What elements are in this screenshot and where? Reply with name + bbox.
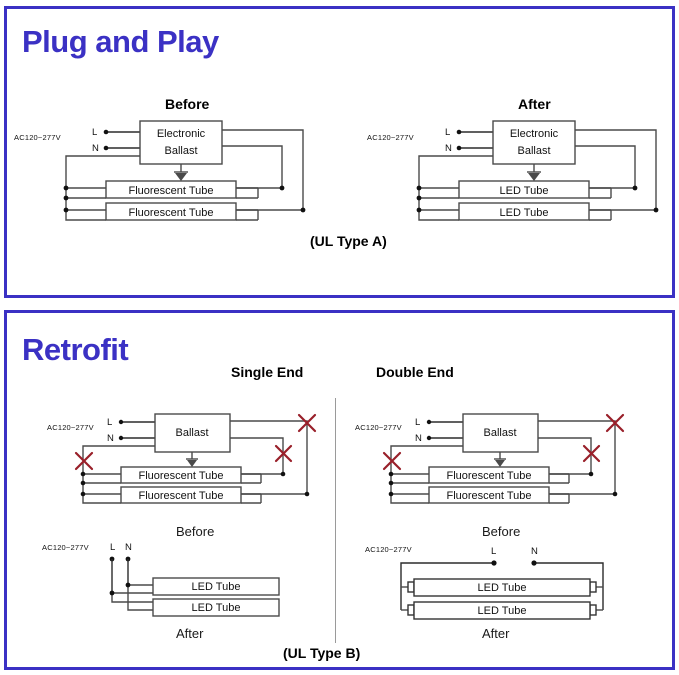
section-title-plug-and-play: Plug and Play (22, 24, 219, 60)
label-line-L: L (491, 546, 496, 557)
junction-dot (457, 146, 462, 151)
label-ul-type-b: (UL Type B) (283, 645, 360, 661)
label-supply-voltage: AC120~277V (355, 423, 402, 432)
label-supply-voltage: AC120~277V (47, 423, 94, 432)
label-tube-2: Fluorescent Tube (139, 490, 224, 502)
junction-dot (389, 492, 394, 497)
junction-dot (104, 130, 109, 135)
heading-double-end: Double End (376, 364, 454, 380)
junction-dot (654, 208, 659, 213)
junction-dot (427, 436, 431, 440)
junction-dot (301, 208, 306, 213)
junction-dot (427, 420, 431, 424)
junction-dot (64, 208, 69, 213)
junction-dot (613, 492, 618, 497)
caption-single-end-after: After (176, 626, 203, 641)
component-tube-2: LED Tube (408, 602, 596, 619)
label-tube-1: LED Tube (192, 581, 241, 593)
diagram-plugplay-before: AC120~277V L N Electronic Ballast (10, 118, 320, 238)
wires-supply (457, 130, 493, 151)
ground-symbol (527, 164, 541, 181)
wires-right-returns (538, 421, 617, 503)
label-tube-2: LED Tube (500, 207, 549, 219)
ground-symbol (174, 164, 188, 181)
junction-dot (126, 583, 131, 588)
junction-dot (589, 472, 594, 477)
label-tube-1: LED Tube (500, 185, 549, 197)
label-ballast-line2: Ballast (164, 145, 197, 157)
diagram-single-end-before: AC120~277V L N Ballast (45, 412, 335, 522)
junction-dot (64, 186, 69, 191)
label-tube-1: Fluorescent Tube (447, 470, 532, 482)
heading-plugplay-after: After (518, 96, 551, 112)
label-line-L: L (92, 127, 97, 138)
junction-dot (64, 196, 69, 201)
label-supply-voltage: AC120~277V (365, 545, 412, 554)
terminal-dot-L (491, 560, 496, 565)
label-neutral-N: N (92, 143, 99, 154)
caption-single-end-before: Before (176, 524, 214, 539)
tube-endcap-left (408, 582, 414, 592)
label-supply-voltage: AC120~277V (367, 133, 414, 142)
junction-dot (81, 481, 86, 486)
junction-dot (110, 591, 115, 596)
junction-dot (417, 208, 422, 213)
junction-dot (281, 472, 286, 477)
label-neutral-N: N (415, 433, 422, 444)
diagram-double-end-before: AC120~277V L N Ballast (353, 412, 643, 522)
junction-dot (81, 492, 86, 497)
label-ballast-line1: Electronic (157, 128, 206, 140)
diagram-double-end-after: AC120~277V L N LED Tube (363, 538, 663, 630)
junction-dot (119, 436, 123, 440)
label-neutral-N: N (531, 546, 538, 557)
diagram-plugplay-after: AC120~277V L N Electronic Ballast (363, 118, 673, 238)
junction-dot (81, 472, 86, 477)
junction-dot (104, 146, 109, 151)
label-supply-voltage: AC120~277V (42, 543, 89, 552)
junction-dot (633, 186, 638, 191)
x-mark-icon (76, 453, 92, 469)
label-supply-voltage: AC120~277V (14, 133, 61, 142)
label-tube-1: Fluorescent Tube (139, 470, 224, 482)
label-tube-2: Fluorescent Tube (447, 490, 532, 502)
junction-dot (457, 130, 462, 135)
label-neutral-N: N (125, 542, 132, 553)
caption-double-end-before: Before (482, 524, 520, 539)
diagram-page: Plug and Play Before After AC120~277V L … (0, 0, 679, 675)
label-tube-2: LED Tube (192, 602, 241, 614)
wires-supply (110, 557, 153, 610)
label-neutral-N: N (107, 433, 114, 444)
wires-supply (119, 420, 155, 440)
label-neutral-N: N (445, 143, 452, 154)
tube-endcap-left (408, 605, 414, 615)
label-line-L: L (415, 417, 420, 428)
label-tube-2: Fluorescent Tube (129, 207, 214, 219)
label-line-L: L (107, 417, 112, 428)
column-divider (335, 398, 336, 643)
label-ul-type-a: (UL Type A) (310, 233, 387, 249)
label-ballast: Ballast (483, 427, 516, 439)
label-ballast: Ballast (175, 427, 208, 439)
label-tube-1: LED Tube (478, 582, 527, 594)
diagram-single-end-after: AC120~277V L N (40, 538, 330, 630)
junction-dot (417, 186, 422, 191)
caption-double-end-after: After (482, 626, 509, 641)
tube-endcap-right (590, 582, 596, 592)
junction-dot (389, 472, 394, 477)
label-line-L: L (445, 127, 450, 138)
heading-single-end: Single End (231, 364, 303, 380)
label-tube-2: LED Tube (478, 605, 527, 617)
junction-dot (280, 186, 285, 191)
tube-endcap-right (590, 605, 596, 615)
junction-dot (417, 196, 422, 201)
ground-symbol (186, 452, 198, 467)
junction-dot (305, 492, 310, 497)
label-line-L: L (110, 542, 115, 553)
heading-plugplay-before: Before (165, 96, 209, 112)
component-tube-1: LED Tube (408, 579, 596, 596)
wires-supply (104, 130, 140, 151)
junction-dot (389, 481, 394, 486)
section-title-retrofit: Retrofit (22, 332, 128, 368)
label-ballast-line1: Electronic (510, 128, 559, 140)
x-mark-icon (384, 453, 400, 469)
wires-right-returns (230, 421, 309, 503)
wires-supply (427, 420, 463, 440)
label-ballast-line2: Ballast (517, 145, 550, 157)
label-tube-1: Fluorescent Tube (129, 185, 214, 197)
ground-symbol (494, 452, 506, 467)
terminal-dot-N (531, 560, 536, 565)
junction-dot (119, 420, 123, 424)
